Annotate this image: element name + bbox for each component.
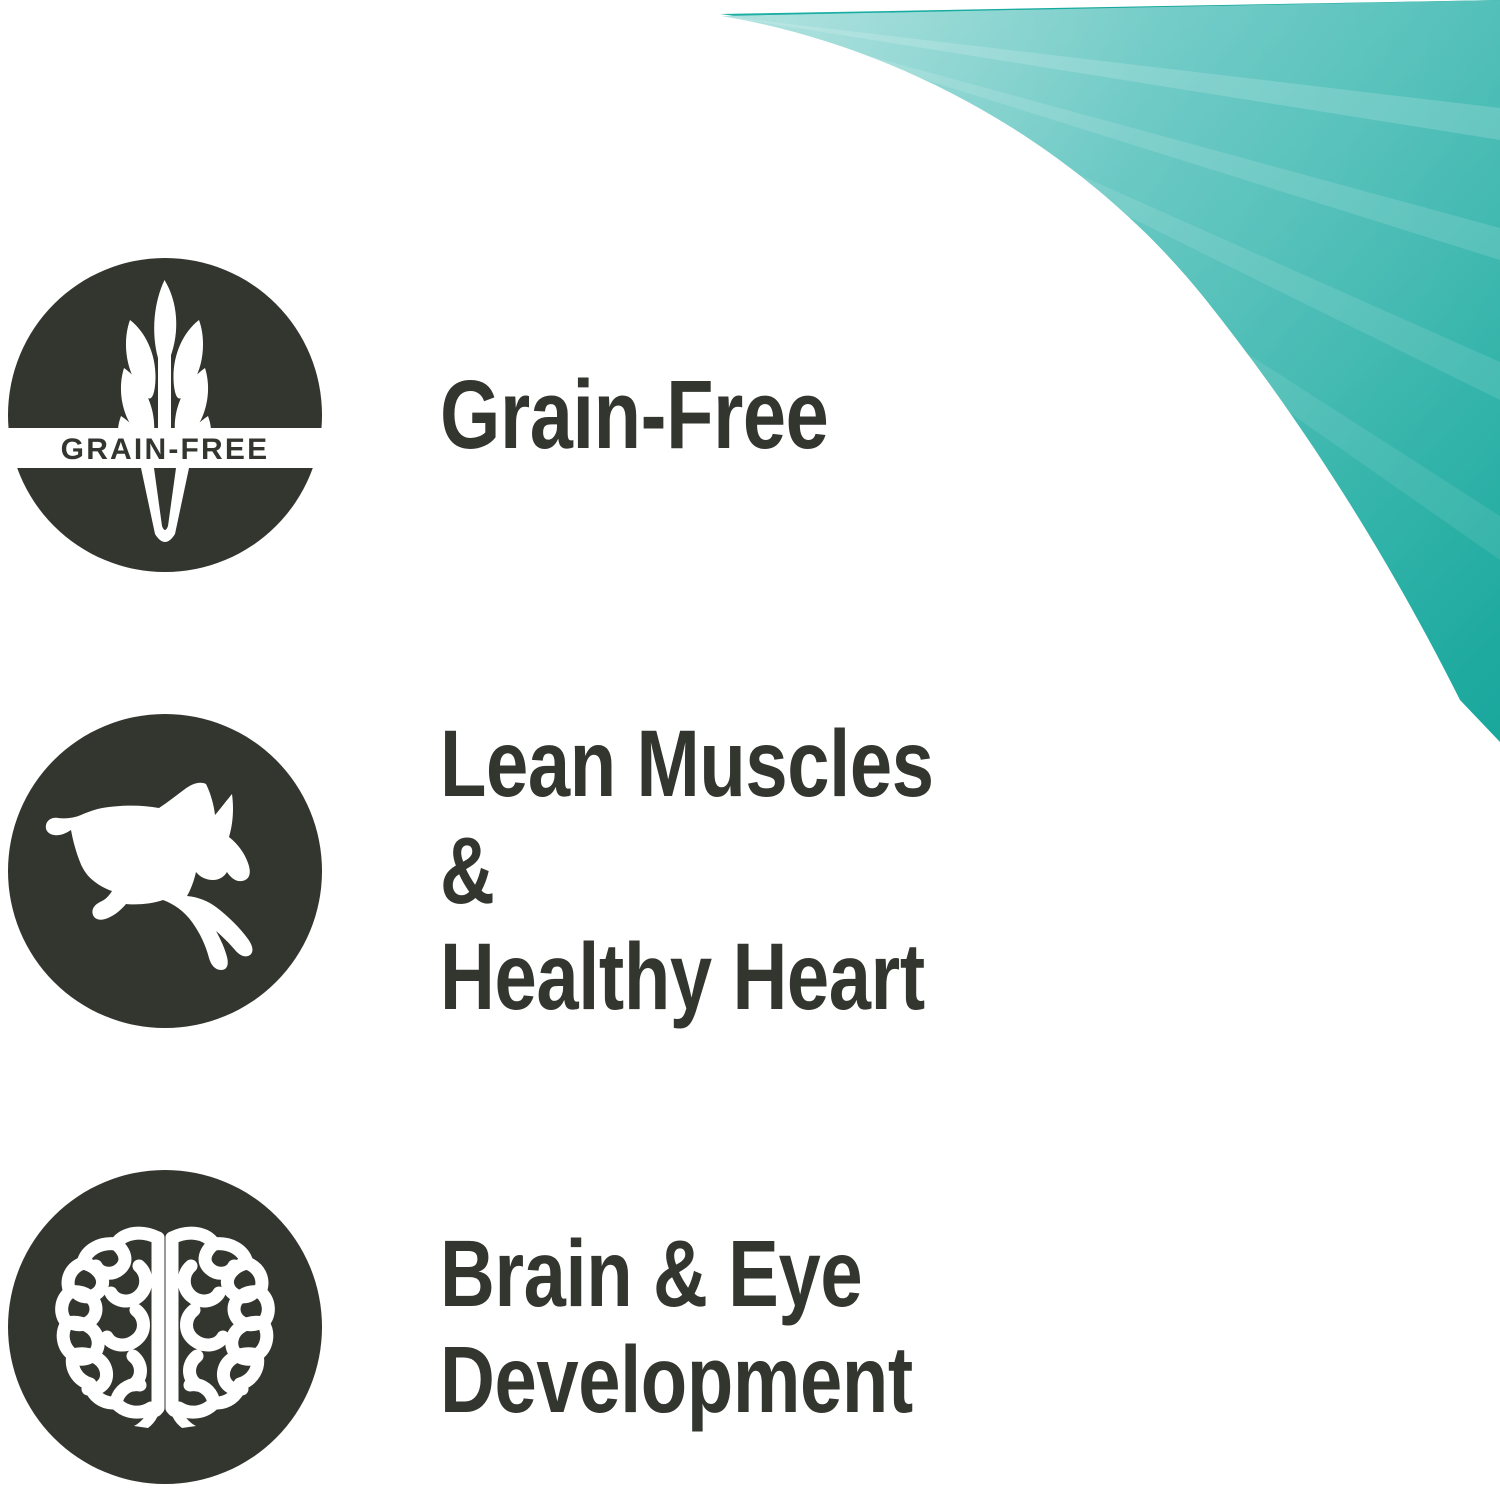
benefit-label: Grain-Free: [440, 361, 828, 470]
leaping-dog-icon: [8, 714, 322, 1028]
benefit-label: Lean Muscles & Healthy Heart: [440, 711, 968, 1030]
benefit-row: Brain & Eye Development: [0, 1168, 1100, 1486]
benefit-label: Brain & Eye Development: [440, 1221, 913, 1434]
benefit-row: Lean Muscles & Healthy Heart: [0, 714, 1100, 1028]
brain-icon: [8, 1170, 322, 1484]
grain-free-badge-text: GRAIN-FREE: [61, 433, 270, 466]
grain-free-badge-icon: GRAIN-FREE: [8, 258, 322, 572]
benefit-panel: GRAIN-FREE Grain-Free Lean Muscles & Hea…: [0, 0, 1500, 1500]
benefit-row: GRAIN-FREE Grain-Free: [0, 258, 1100, 572]
